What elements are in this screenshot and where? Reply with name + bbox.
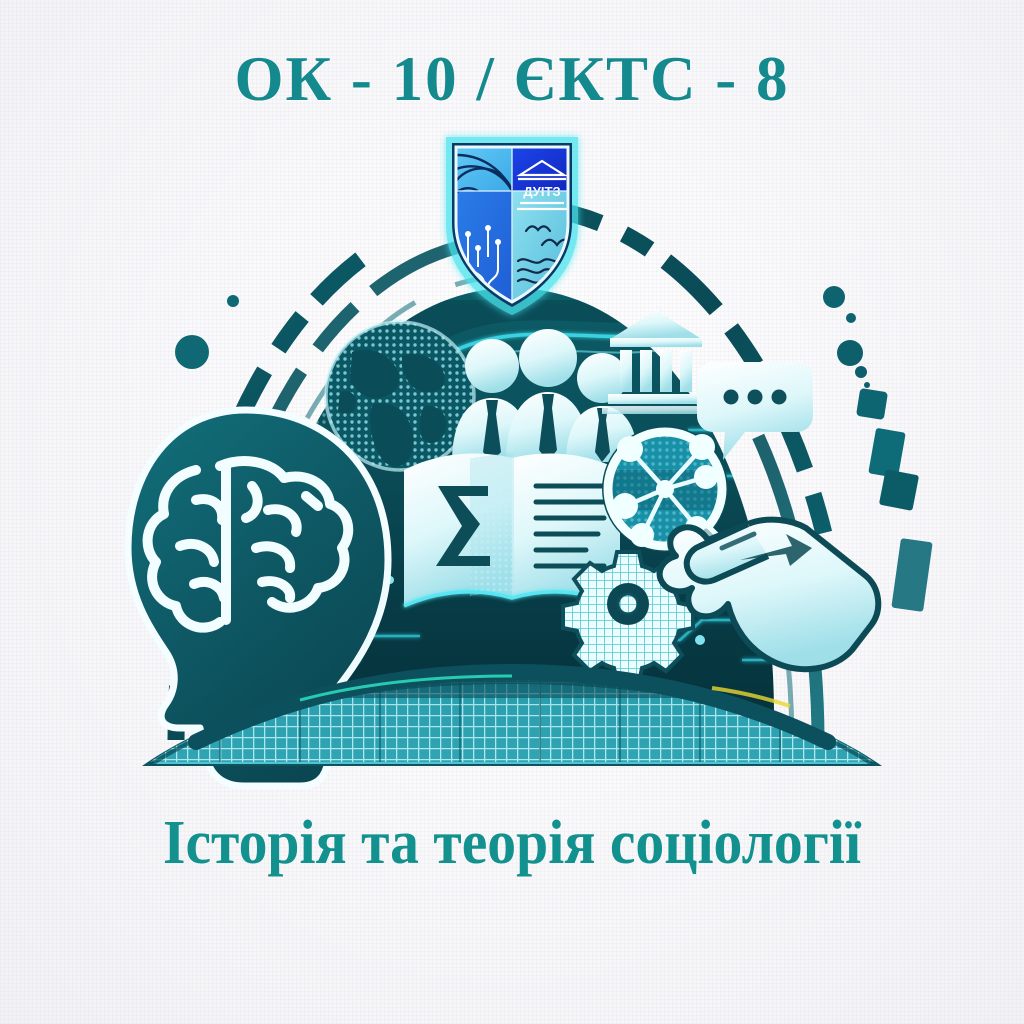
poster-stage: ДУІТЗ (0, 0, 1024, 1024)
arc-dot (175, 335, 209, 369)
course-code-label: ОК - 10 / ЄКТС - 8 (0, 48, 1024, 111)
university-shield: ДУІТЗ (446, 137, 578, 315)
course-title-label: Історія та теорія соціології (36, 812, 988, 874)
